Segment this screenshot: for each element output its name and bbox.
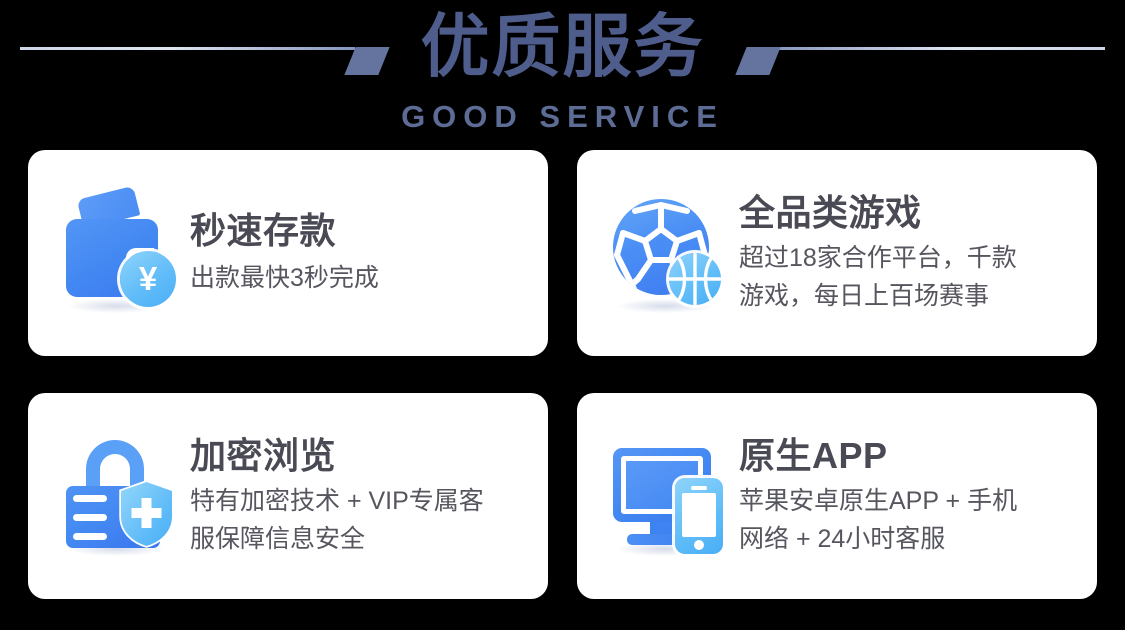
card-text-block: 全品类游戏 超过18家合作平台，千款 游戏，每日上百场赛事 <box>731 191 1097 315</box>
lock-slot <box>73 514 107 521</box>
smartphone-icon <box>675 478 723 554</box>
card-desc-block: 特有加密技术 + VIP专属客 服保障信息安全 <box>190 482 536 558</box>
feature-card-games[interactable]: 全品类游戏 超过18家合作平台，千款 游戏，每日上百场赛事 <box>577 150 1097 356</box>
yen-coin-icon: ¥ <box>120 251 176 307</box>
card-text-block: 加密浏览 特有加密技术 + VIP专属客 服保障信息安全 <box>182 434 548 558</box>
phone-speaker <box>691 486 707 490</box>
card-title: 秒速存款 <box>190 209 536 253</box>
card-desc-line-1: 超过18家合作平台，千款 <box>739 239 1085 277</box>
card-desc-block: 苹果安卓原生APP + 手机 网络 + 24小时客服 <box>739 482 1085 558</box>
card-text-block: 秒速存款 出款最快3秒完成 <box>182 209 548 297</box>
card-title: 原生APP <box>739 434 1085 478</box>
feature-card-encryption[interactable]: 加密浏览 特有加密技术 + VIP专属客 服保障信息安全 <box>28 393 548 599</box>
lock-slot <box>73 533 107 540</box>
card-desc-line-2: 游戏，每日上百场赛事 <box>739 277 1085 315</box>
monitor-phone-icon <box>607 434 731 558</box>
page-subtitle: GOOD SERVICE <box>0 99 1125 135</box>
card-desc-line-2: 网络 + 24小时客服 <box>739 520 1085 558</box>
card-text-block: 原生APP 苹果安卓原生APP + 手机 网络 + 24小时客服 <box>731 434 1097 558</box>
feature-card-grid: ¥ 秒速存款 出款最快3秒完成 <box>28 150 1097 599</box>
phone-home-button <box>694 540 704 550</box>
card-desc-block: 超过18家合作平台，千款 游戏，每日上百场赛事 <box>739 239 1085 315</box>
card-desc-line-1: 出款最快3秒完成 <box>190 259 536 297</box>
page-title: 优质服务 <box>0 6 1125 88</box>
card-title: 全品类游戏 <box>739 191 1085 235</box>
card-desc-line-2: 服保障信息安全 <box>190 520 536 558</box>
shield-plus-icon <box>117 480 176 548</box>
wallet-yen-icon: ¥ <box>58 191 182 315</box>
lock-shield-icon <box>58 434 182 558</box>
card-desc-line-1: 苹果安卓原生APP + 手机 <box>739 482 1085 520</box>
soccer-basketball-icon <box>607 191 731 315</box>
basketball-icon <box>669 253 721 305</box>
feature-card-deposit[interactable]: ¥ 秒速存款 出款最快3秒完成 <box>28 150 548 356</box>
feature-card-native-app[interactable]: 原生APP 苹果安卓原生APP + 手机 网络 + 24小时客服 <box>577 393 1097 599</box>
card-title: 加密浏览 <box>190 434 536 478</box>
lock-slot <box>73 495 107 502</box>
card-desc-line-1: 特有加密技术 + VIP专属客 <box>190 482 536 520</box>
phone-screen <box>682 493 716 537</box>
good-service-banner: 优质服务 GOOD SERVICE ¥ 秒速存款 出款最快3秒完成 <box>0 0 1125 630</box>
yen-symbol: ¥ <box>120 251 176 307</box>
banner-header: 优质服务 GOOD SERVICE <box>0 0 1125 142</box>
